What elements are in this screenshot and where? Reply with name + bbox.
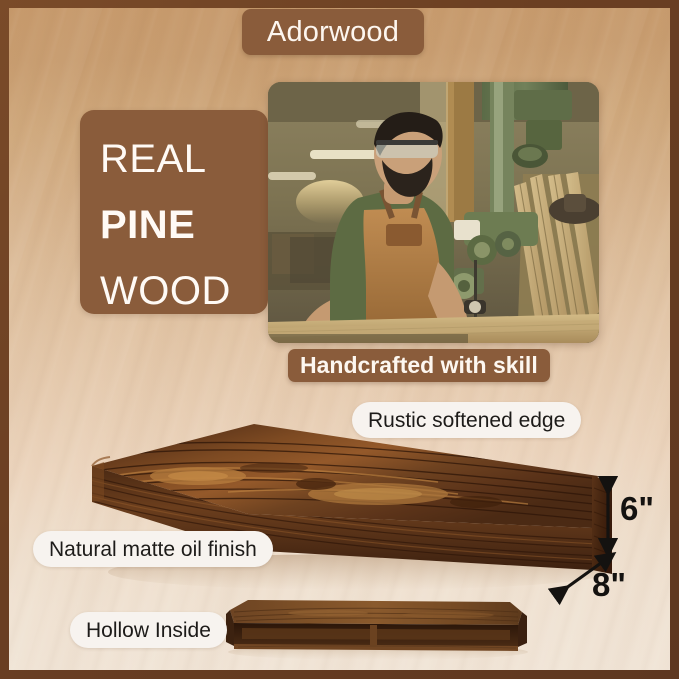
photo-caption-badge: Handcrafted with skill (288, 349, 550, 382)
feature-pill-rustic-edge: Rustic softened edge (352, 402, 581, 438)
brand-badge: Adorwood (242, 9, 424, 55)
workshop-photo-illustration (268, 82, 599, 343)
brand-name-label: Adorwood (267, 18, 399, 47)
feature-pill-hollow-inside: Hollow Inside (70, 612, 227, 648)
product-infographic: Adorwood REAL PINE WOOD (0, 0, 679, 679)
height-dimension-label: 6" (620, 492, 654, 525)
hero-line-1: REAL (100, 126, 268, 192)
hollow-shelf-view (218, 592, 533, 660)
hero-line-2: PINE (100, 192, 268, 258)
feature-label-rustic-edge: Rustic softened edge (368, 410, 565, 431)
workshop-photo (268, 82, 599, 343)
feature-label-matte-finish: Natural matte oil finish (49, 539, 257, 560)
hero-line-3: WOOD (100, 258, 268, 324)
depth-dimension-label: 8" (592, 568, 626, 601)
feature-pill-matte-finish: Natural matte oil finish (33, 531, 273, 567)
photo-caption-label: Handcrafted with skill (300, 354, 538, 377)
hero-headline-panel: REAL PINE WOOD (80, 110, 268, 314)
hollow-shelf-illustration (218, 592, 533, 660)
feature-label-hollow-inside: Hollow Inside (86, 620, 211, 641)
